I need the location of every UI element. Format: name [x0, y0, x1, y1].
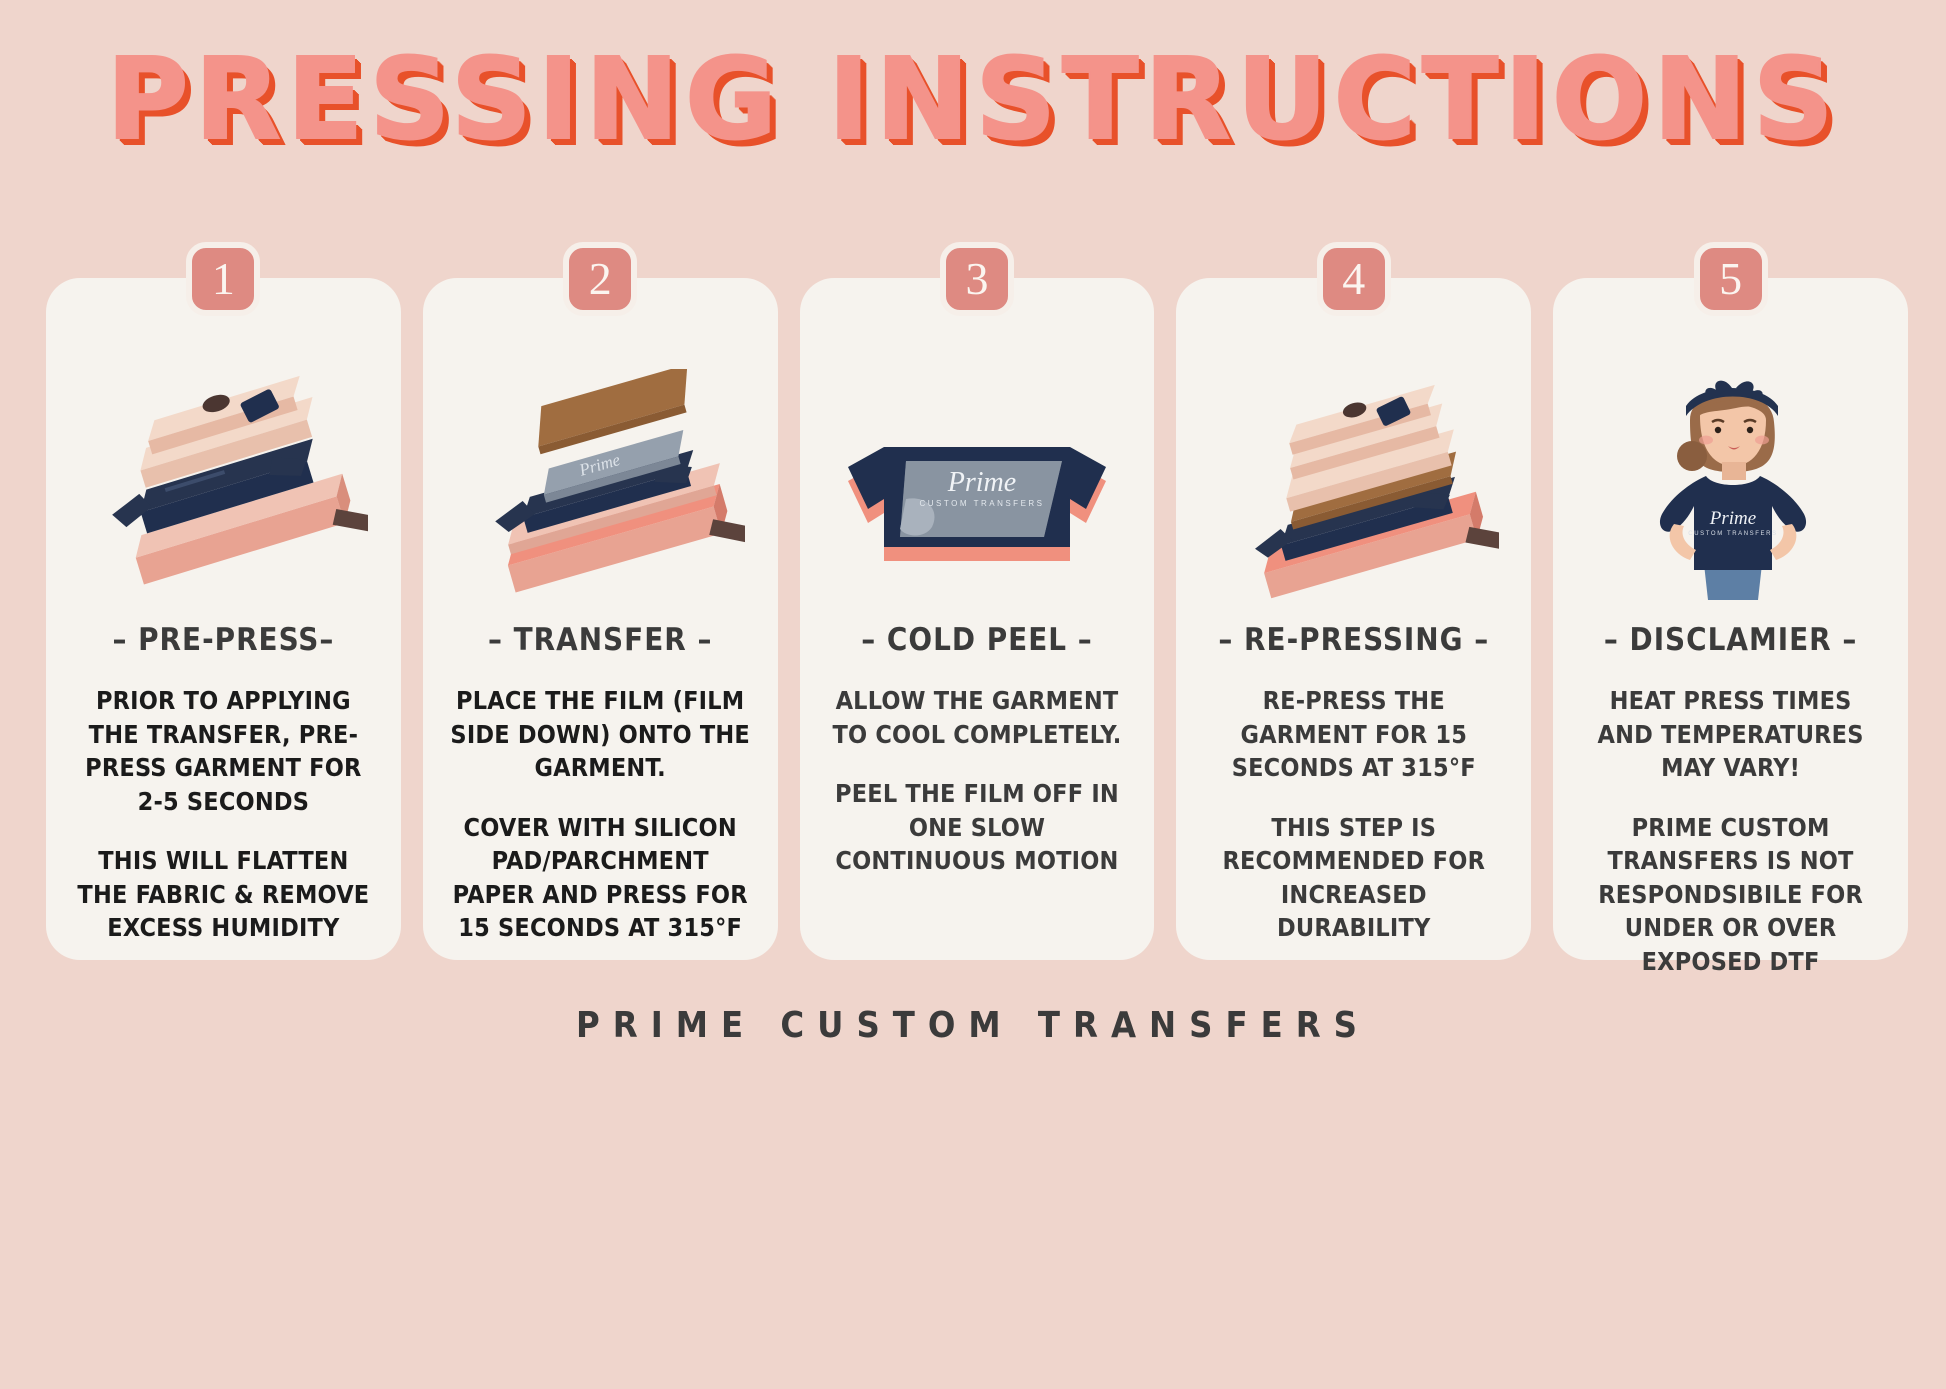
step-body-3: ALLOW THE GARMENT TO COOL COMPLETELY. PE…	[824, 684, 1129, 878]
step-paragraph: COVER WITH SILICON PAD/PARCHMENT PAPER A…	[448, 811, 753, 945]
shirt-logo-brand: Prime	[947, 467, 1016, 498]
step-body-1: PRIOR TO APPLYING THE TRANSFER, PRE-PRES…	[71, 684, 376, 945]
step-title-4: – RE-PRESSING –	[1176, 622, 1531, 658]
heat-press-illustration	[46, 364, 401, 604]
cold-peel-shirt-illustration: Prime CUSTOM TRANSFERS	[800, 364, 1155, 604]
step-paragraph: RE-PRESS THE GARMENT FOR 15 SECONDS AT 3…	[1201, 684, 1506, 785]
page-title: PRESSING INSTRUCTIONS	[0, 44, 1946, 194]
step-card-4: 4	[1176, 278, 1531, 960]
step-paragraph: THIS WILL FLATTEN THE FABRIC & REMOVE EX…	[71, 844, 376, 945]
re-press-illustration	[1176, 364, 1531, 604]
step-title-3: – COLD PEEL –	[800, 622, 1155, 658]
step-paragraph: PRIME CUSTOM TRANSFERS IS NOT RESPONDSIB…	[1578, 811, 1883, 979]
step-paragraph: PLACE THE FILM (FILM SIDE DOWN) ONTO THE…	[448, 684, 753, 785]
transfer-film-illustration: Prime	[423, 364, 778, 604]
step-paragraph: PEEL THE FILM OFF IN ONE SLOW CONTINUOUS…	[824, 777, 1129, 878]
step-paragraph: ALLOW THE GARMENT TO COOL COMPLETELY.	[824, 684, 1129, 751]
step-paragraph: PRIOR TO APPLYING THE TRANSFER, PRE-PRES…	[71, 684, 376, 818]
page-title-text: PRESSING INSTRUCTIONS	[107, 44, 1840, 156]
step-card-2: 2 Prime	[423, 278, 778, 960]
footer-brand: PRIME CUSTOM TRANSFERS	[0, 1005, 1946, 1046]
step-card-1: 1	[46, 278, 401, 960]
woman-wearing-shirt-illustration: Prime CUSTOM TRANSFERS	[1553, 364, 1908, 604]
step-number-badge-5: 5	[1694, 242, 1768, 316]
step-number-badge-4: 4	[1317, 242, 1391, 316]
step-title-1: – PRE-PRESS–	[46, 622, 401, 658]
step-number-badge-1: 1	[186, 242, 260, 316]
step-title-2: – TRANSFER –	[423, 622, 778, 658]
step-card-5: 5	[1553, 278, 1908, 960]
steps-container: 1	[46, 278, 1908, 960]
svg-text:CUSTOM TRANSFERS: CUSTOM TRANSFERS	[1688, 531, 1777, 537]
poster-root: PRESSING INSTRUCTIONS 1	[0, 0, 1946, 1389]
step-body-5: HEAT PRESS TIMES AND TEMPERATURES MAY VA…	[1578, 684, 1883, 978]
svg-text:Prime: Prime	[1708, 508, 1755, 529]
step-card-3: 3 Prime CUSTOM TRANSFERS – COLD PEEL – A…	[800, 278, 1155, 960]
step-paragraph: THIS STEP IS RECOMMENDED FOR INCREASED D…	[1201, 811, 1506, 945]
step-body-2: PLACE THE FILM (FILM SIDE DOWN) ONTO THE…	[448, 684, 753, 945]
step-number-badge-2: 2	[563, 242, 637, 316]
shirt-logo-tagline: CUSTOM TRANSFERS	[919, 499, 1044, 508]
step-title-5: – DISCLAMIER –	[1553, 622, 1908, 658]
step-number-badge-3: 3	[940, 242, 1014, 316]
step-paragraph: HEAT PRESS TIMES AND TEMPERATURES MAY VA…	[1578, 684, 1883, 785]
step-body-4: RE-PRESS THE GARMENT FOR 15 SECONDS AT 3…	[1201, 684, 1506, 945]
